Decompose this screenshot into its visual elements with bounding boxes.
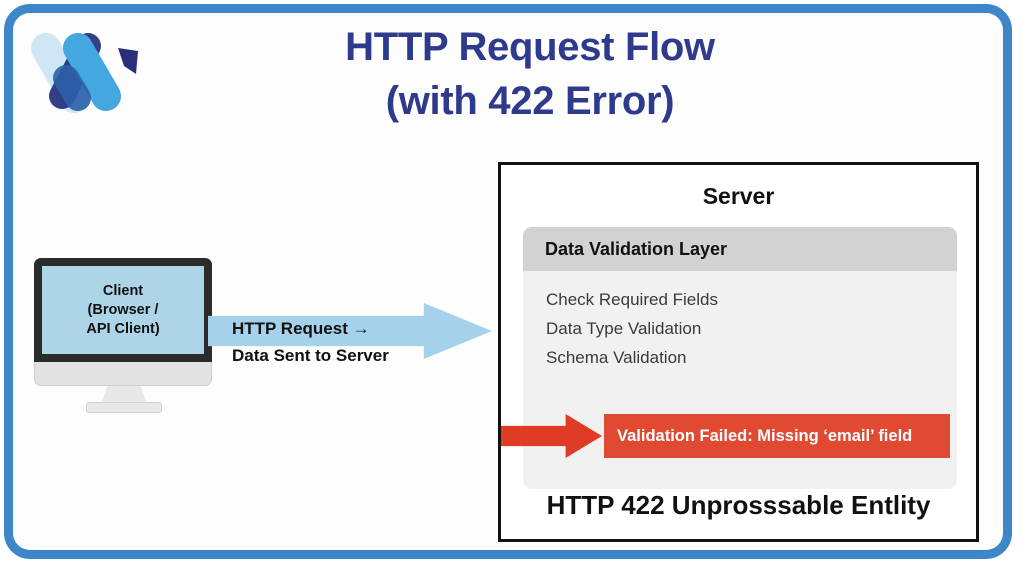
client-monitor: Client (Browser / API Client) — [34, 258, 212, 410]
page-title: HTTP Request Flow (with 422 Error) — [200, 20, 860, 128]
client-label-line-3: API Client) — [86, 320, 159, 339]
validation-step-item: Data Type Validation — [546, 314, 957, 343]
http-status-code-text: HTTP 422 Unprosssable Entlity — [501, 490, 976, 521]
diagram-canvas: HTTP Request Flow (with 422 Error) Clien… — [0, 0, 1024, 571]
monitor-chin — [34, 362, 212, 386]
server-box: Server Data Validation Layer Check Requi… — [498, 162, 979, 542]
client-label-line-2: (Browser / — [88, 301, 159, 320]
http-request-label: HTTP Request → Data Sent to Server — [232, 315, 502, 369]
data-validation-layer-header-text: Data Validation Layer — [545, 239, 727, 260]
monitor-screen: Client (Browser / API Client) — [42, 266, 204, 354]
http-request-label-line-2: Data Sent to Server — [232, 342, 502, 369]
validation-step-list: Check Required Fields Data Type Validati… — [523, 271, 957, 372]
data-validation-layer-header: Data Validation Layer — [523, 227, 957, 271]
logo-accent-mark — [118, 48, 138, 74]
validation-error-banner-text: Validation Failed: Missing ‘email’ field — [617, 427, 912, 446]
page-title-line-1: HTTP Request Flow — [200, 20, 860, 74]
w-logo — [22, 26, 140, 114]
validation-step-item: Check Required Fields — [546, 285, 957, 314]
w-logo-svg — [22, 26, 140, 114]
server-title: Server — [501, 183, 976, 210]
monitor-bezel: Client (Browser / API Client) — [34, 258, 212, 362]
http-request-label-line-1: HTTP Request → — [232, 315, 502, 342]
logo-stroke-mid — [66, 78, 78, 98]
monitor-stand-base — [86, 402, 162, 413]
client-label-line-1: Client — [103, 282, 143, 301]
page-title-line-2: (with 422 Error) — [200, 74, 860, 128]
validation-step-item: Schema Validation — [546, 343, 957, 372]
validation-error-banner: Validation Failed: Missing ‘email’ field — [604, 414, 950, 458]
